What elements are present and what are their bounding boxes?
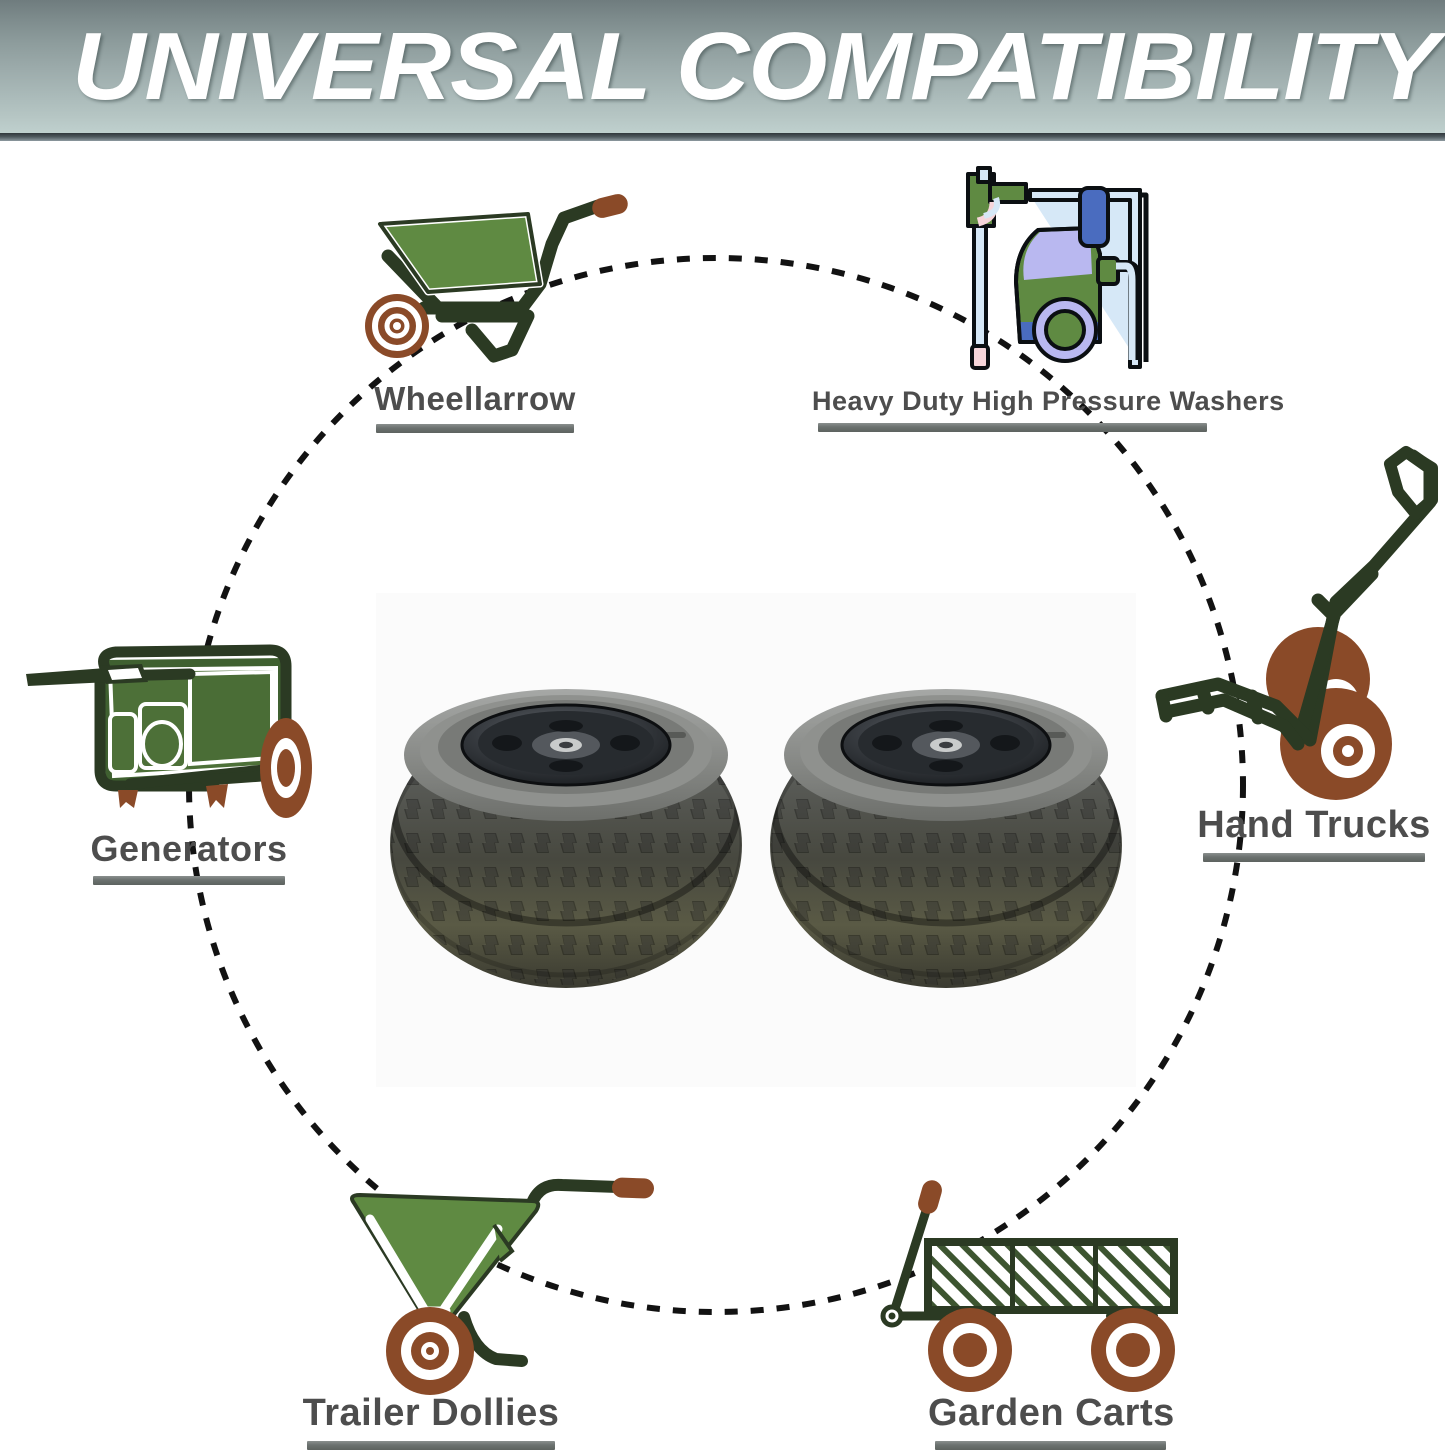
label-generators-underline [93, 876, 285, 885]
label-generators-text: Generators [84, 828, 294, 870]
label-wheelbarrow-underline [376, 424, 574, 433]
product-photo [376, 593, 1136, 1087]
label-pressure-washers-text: Heavy Duty High Pressure Washers [812, 386, 1212, 417]
label-trailer-dollies-underline [307, 1441, 555, 1450]
label-trailer-dollies-text: Trailer Dollies [300, 1392, 562, 1435]
garden-cart-icon [852, 1184, 1192, 1394]
label-pressure-washers-underline [818, 423, 1207, 432]
label-garden-carts-underline [935, 1441, 1166, 1450]
hand-truck-icon [1158, 444, 1440, 794]
label-hand-trucks: Hand Trucks [1196, 804, 1432, 862]
wheelbarrow-icon [352, 188, 670, 368]
label-wheelbarrow-text: Wheellarrow [370, 380, 580, 418]
page-title: UNIVERSAL COMPATIBILITY [72, 8, 1445, 128]
label-pressure-washers: Heavy Duty High Pressure Washers [812, 386, 1212, 432]
pressure-washer-icon [950, 162, 1172, 382]
label-generators: Generators [84, 828, 294, 885]
label-garden-carts-text: Garden Carts [928, 1392, 1173, 1435]
trailer-dolly-icon [326, 1179, 676, 1399]
label-trailer-dollies: Trailer Dollies [300, 1392, 562, 1450]
diagram-stage: Wheellarrow [0, 144, 1445, 1445]
label-garden-carts: Garden Carts [928, 1392, 1173, 1450]
label-hand-trucks-text: Hand Trucks [1196, 804, 1432, 847]
banner-divider [0, 133, 1445, 141]
label-wheelbarrow: Wheellarrow [370, 380, 580, 433]
header-banner: UNIVERSAL COMPATIBILITY [0, 0, 1445, 133]
generator-icon [14, 640, 326, 828]
label-hand-trucks-underline [1203, 853, 1425, 862]
tire-pair-image [376, 593, 1136, 1087]
